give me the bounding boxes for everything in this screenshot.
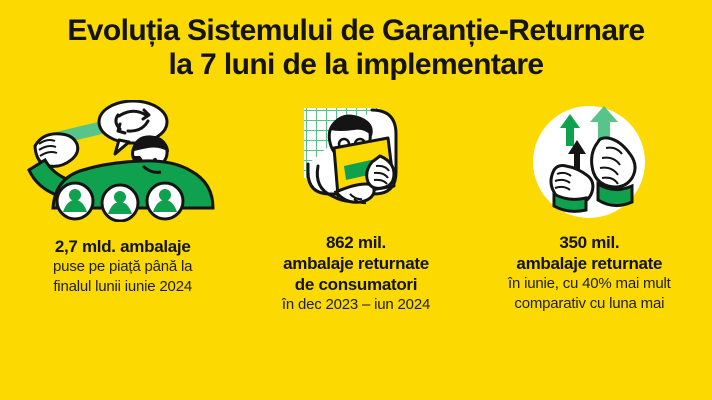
caption-1-subtext: puse pe piață până la finalul lunii iuni…	[10, 257, 235, 297]
stat-column-packaging-returned-by-consumers: 862 mil. ambalaje returnate de consumato…	[239, 100, 472, 315]
caption-3-headline: 350 mil. ambalaje returnate	[477, 232, 702, 274]
caption-2-subtext: în dec 2023 – iun 2024	[243, 295, 468, 315]
caption-2: 862 mil. ambalaje returnate de consumato…	[239, 232, 472, 315]
caption-3-subtext: în iunie, cu 40% mai mult comparativ cu …	[477, 274, 702, 314]
caption-1-headline: 2,7 mld. ambalaje	[10, 236, 235, 257]
caption-3-subtext-line-2: comparativ cu luna mai	[477, 294, 702, 314]
avatar-2	[102, 185, 138, 221]
caption-1-subtext-line-1: puse pe piață până la	[10, 257, 235, 277]
caption-3-headline-line-1: 350 mil.	[477, 232, 702, 253]
title-line-2: la 7 luni de la implementare	[0, 48, 712, 82]
caption-2-headline-line-1: 862 mil.	[243, 232, 468, 253]
infographic-root: Evoluția Sistemului de Garanție-Returnar…	[0, 0, 712, 400]
title-line-1: Evoluția Sistemului de Garanție-Returnar…	[0, 14, 712, 48]
page-title: Evoluția Sistemului de Garanție-Returnar…	[0, 0, 712, 82]
avatar-3	[147, 183, 183, 219]
caption-3-subtext-line-1: în iunie, cu 40% mai mult	[477, 274, 702, 294]
caption-1-subtext-line-2: finalul lunii iunie 2024	[10, 277, 235, 297]
illustration-person-with-recycling-speech-bubble-and-three-avatars	[6, 100, 239, 222]
stat-column-packaging-placed-on-market: 2,7 mld. ambalaje puse pe piață până la …	[6, 100, 239, 297]
caption-2-headline-line-3: de consumatori	[243, 274, 468, 295]
caption-1-headline-line-1: 2,7 mld. ambalaje	[10, 236, 235, 257]
caption-2-headline-line-2: ambalaje returnate	[243, 253, 468, 274]
avatar-1	[57, 183, 93, 219]
illustration-svg-3	[524, 100, 654, 222]
caption-3: 350 mil. ambalaje returnate în iunie, cu…	[473, 232, 706, 314]
caption-3-headline-line-2: ambalaje returnate	[477, 253, 702, 274]
illustration-two-hands-with-up-arrows-in-circle	[473, 100, 706, 222]
illustration-svg-1	[15, 100, 230, 222]
caption-2-subtext-line-1: în dec 2023 – iun 2024	[243, 295, 468, 315]
caption-1: 2,7 mld. ambalaje puse pe piață până la …	[6, 236, 239, 297]
illustration-svg-2	[276, 100, 436, 222]
caption-2-headline: 862 mil. ambalaje returnate de consumato…	[243, 232, 468, 295]
stats-columns: 2,7 mld. ambalaje puse pe piață până la …	[0, 100, 712, 315]
avatar-group	[57, 183, 183, 221]
illustration-person-hugging-box-on-grid-background	[239, 100, 472, 222]
stat-column-packaging-returned-in-june: 350 mil. ambalaje returnate în iunie, cu…	[473, 100, 706, 314]
